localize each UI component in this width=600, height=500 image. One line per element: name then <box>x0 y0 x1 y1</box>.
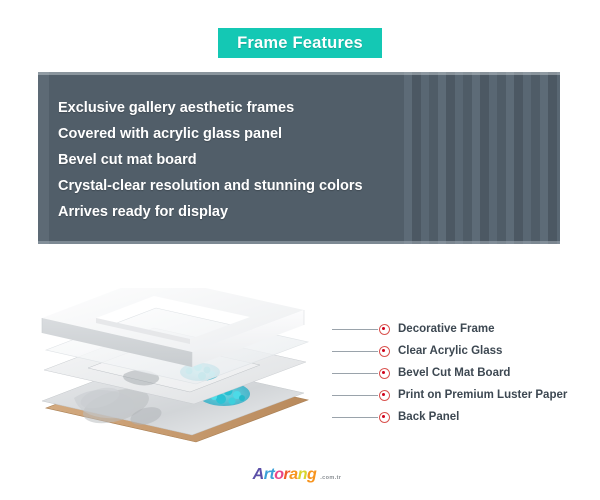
callout-label: Clear Acrylic Glass <box>398 345 502 357</box>
panel-bottom-edge <box>38 241 560 244</box>
logo-letter: A <box>253 466 264 483</box>
callout-row: Back Panel <box>332 406 592 428</box>
logo-letter: o <box>274 466 283 483</box>
features-panel: Exclusive gallery aesthetic frames Cover… <box>38 72 560 244</box>
callout-marker-icon <box>379 368 390 379</box>
page-title-banner: Frame Features <box>218 28 382 58</box>
callout-row: Decorative Frame <box>332 318 592 340</box>
callout-leader-line <box>332 395 378 396</box>
panel-left-edge <box>38 72 49 244</box>
logo-domain-suffix: .com.tr <box>320 475 341 481</box>
exploded-frame-diagram <box>28 288 338 443</box>
callout-leader-line <box>332 373 378 374</box>
feature-item: Covered with acrylic glass panel <box>58 121 458 147</box>
callout-marker-icon <box>379 324 390 335</box>
logo-letter: g <box>307 466 316 483</box>
logo-wordmark: Artorang .com.tr <box>253 467 348 483</box>
panel-top-edge <box>38 72 560 75</box>
logo-letter: n <box>298 466 307 483</box>
callout-marker-icon <box>379 346 390 357</box>
callout-label: Bevel Cut Mat Board <box>398 367 510 379</box>
callout-row: Bevel Cut Mat Board <box>332 362 592 384</box>
callout-list: Decorative Frame Clear Acrylic Glass Bev… <box>332 318 592 428</box>
callout-label: Print on Premium Luster Paper <box>398 389 567 401</box>
feature-item: Bevel cut mat board <box>58 147 458 173</box>
callout-marker-icon <box>379 412 390 423</box>
brand-logo: Artorang .com.tr <box>0 466 600 484</box>
callout-row: Print on Premium Luster Paper <box>332 384 592 406</box>
callout-leader-line <box>332 329 378 330</box>
callout-label: Back Panel <box>398 411 459 423</box>
callout-leader-line <box>332 417 378 418</box>
callout-leader-line <box>332 351 378 352</box>
callout-row: Clear Acrylic Glass <box>332 340 592 362</box>
callout-marker-icon <box>379 390 390 401</box>
feature-item: Exclusive gallery aesthetic frames <box>58 95 458 121</box>
page-title: Frame Features <box>237 34 363 53</box>
feature-item: Arrives ready for display <box>58 199 458 225</box>
feature-item: Crystal-clear resolution and stunning co… <box>58 173 458 199</box>
logo-letter: a <box>289 466 297 483</box>
callout-label: Decorative Frame <box>398 323 495 335</box>
features-list: Exclusive gallery aesthetic frames Cover… <box>58 95 458 225</box>
